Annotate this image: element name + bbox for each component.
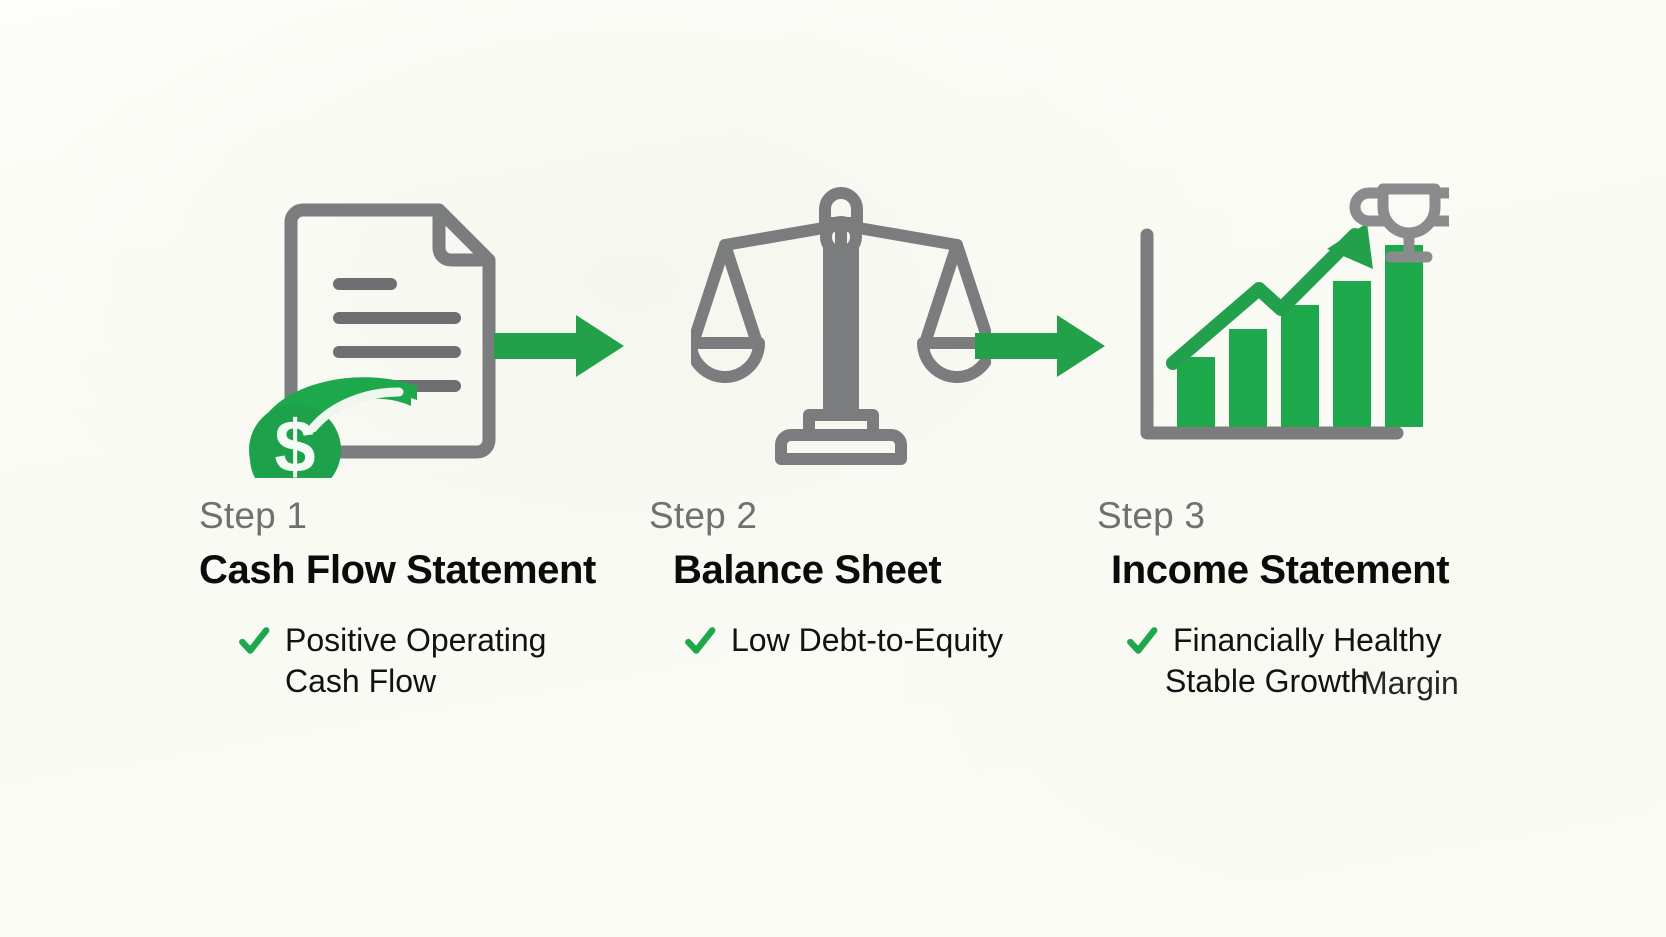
bullet-lines: Low Debt-to-Equity <box>731 620 1003 661</box>
bullet-item: Positive Operating Cash Flow <box>237 620 546 702</box>
arrow-step1-to-step2 <box>494 313 624 379</box>
infographic-canvas: $ Step 1 Cash Flow Statement Positive Op… <box>0 0 1666 937</box>
bullet-item: Low Debt-to-Equity <box>683 620 1003 661</box>
check-icon <box>1125 624 1159 658</box>
bullet-item: Financially Healthy Stable GrowthMargin <box>1125 620 1442 702</box>
bullet-line-1: Low Debt-to-Equity <box>731 620 1003 661</box>
step-3-eyebrow: Step 3 <box>1097 496 1205 536</box>
balance-scale-icon <box>676 178 1006 478</box>
step-2-title: Balance Sheet <box>673 545 941 595</box>
arrow-step2-to-step3 <box>975 313 1105 379</box>
bullet-line-2: Stable Growth <box>1165 663 1368 699</box>
step-1-eyebrow: Step 1 <box>199 496 307 536</box>
step-1-text-block: Step 1 Cash Flow Statement Positive Oper… <box>191 496 591 702</box>
step-3-bullets: Financially Healthy Stable GrowthMargin <box>1125 620 1442 702</box>
step-card-3: Step 3 Income Statement Financially Heal… <box>1074 0 1504 702</box>
steps-row: $ Step 1 Cash Flow Statement Positive Op… <box>0 0 1666 760</box>
bullet-lines: Positive Operating Cash Flow <box>285 620 546 702</box>
growth-bar-chart-trophy-icon <box>1124 178 1454 478</box>
step-1-bullets: Positive Operating Cash Flow <box>237 620 546 702</box>
step-2-text-block: Step 2 Balance Sheet Low Debt-to-Equity <box>641 496 1041 661</box>
step-3-title: Income Statement <box>1111 545 1449 595</box>
svg-text:$: $ <box>274 405 315 478</box>
step-3-text-block: Step 3 Income Statement Financially Heal… <box>1089 496 1489 702</box>
step-2-eyebrow: Step 2 <box>649 496 757 536</box>
step-2-bullets: Low Debt-to-Equity <box>683 620 1003 661</box>
check-icon <box>683 624 717 658</box>
check-icon <box>237 624 271 658</box>
bullet-line-2: Cash Flow <box>285 661 546 702</box>
step-1-title: Cash Flow Statement <box>199 545 596 595</box>
bullet-line-1: Financially Healthy <box>1173 620 1442 661</box>
bullet-lines: Financially Healthy Stable GrowthMargin <box>1173 620 1442 702</box>
bullet-line-1: Positive Operating <box>285 620 546 661</box>
bullet-line-2-overlap-artifact: Margin <box>1361 663 1459 704</box>
bullet-line-2-wrapper: Stable GrowthMargin <box>1165 661 1442 702</box>
